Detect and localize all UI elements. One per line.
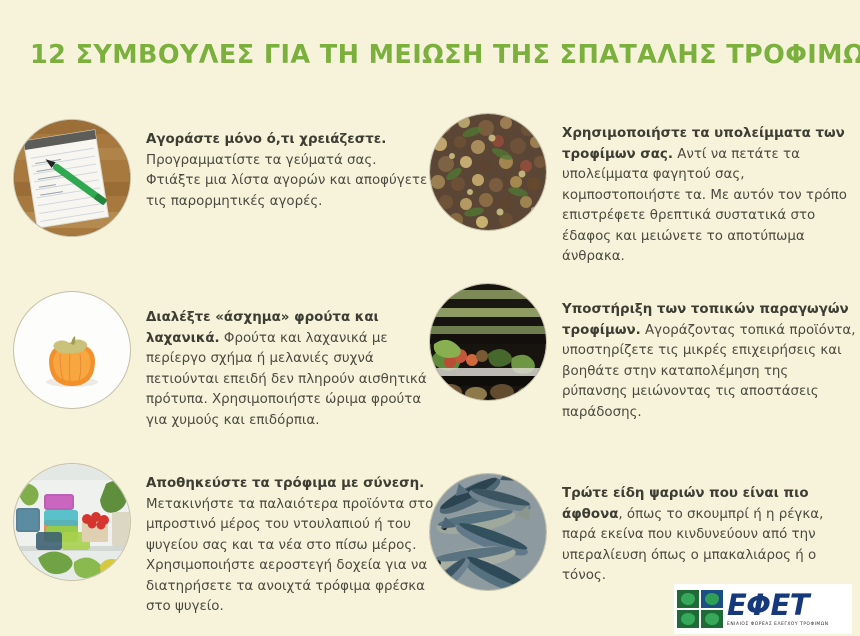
tip-heading: Αγοράστε μόνο ό,τι χρειάζεστε. [146,132,386,147]
tip-text: Αγοράστε μόνο ό,τι χρειάζεστε. Προγραμμα… [130,120,434,212]
efet-grid-cell [677,590,699,608]
efet-grid-cell [701,610,723,628]
farmers-market-stall-photo [430,284,546,400]
tip-body: Προγραμματίστε τα γεύματά σας. Φτιάξτε μ… [146,153,427,209]
tip-eat-abundant-fish: Τρώτε είδη ψαριών που είναι πιο άφθονα, … [430,474,856,590]
efet-grid-cell [701,590,723,608]
tip-store-food-wisely: Αποθηκεύστε τα τρόφιμα με σύνεση. Μετακι… [14,464,434,618]
efet-grid-cell [677,610,699,628]
compost-food-scraps-photo [430,114,546,230]
persimmon-fruit-photo [14,292,130,408]
tip-text: Τρώτε είδη ψαριών που είναι πιο άφθονα, … [546,474,856,587]
tip-text: Αποθηκεύστε τα τρόφιμα με σύνεση. Μετακι… [130,464,434,618]
efet-logo: ΕΦΕΤ ΕΝΙΑΙΟΣ ΦΟΡΕΑΣ ΕΛΕΓΧΟΥ ΤΡΟΦΙΜΩΝ [674,584,852,634]
efet-name: ΕΦΕΤ [727,591,849,620]
tip-use-food-leftovers: Χρησιμοποιήστε τα υπολείμματα των τροφίμ… [430,114,856,268]
notepad-with-green-pen-photo [14,120,130,236]
page-title: 12 ΣΥΜΒΟΥΛΕΣ ΓΙΑ ΤΗ ΜΕΙΩΣΗ ΤΗΣ ΣΠΑΤΑΛΗΣ … [30,40,830,70]
tip-heading: Αποθηκεύστε τα τρόφιμα με σύνεση. [146,476,424,491]
fridge-storage-containers-photo [14,464,130,580]
efet-wordmark: ΕΦΕΤ ΕΝΙΑΙΟΣ ΦΟΡΕΑΣ ΕΛΕΓΧΟΥ ΤΡΟΦΙΜΩΝ [723,591,849,627]
tip-text: Υποστήριξη των τοπικών παραγωγών τροφίμω… [546,284,856,423]
tip-text: Διαλέξτε «άσχημα» φρούτα και λαχανικά. Φ… [130,292,434,431]
efet-produce-grid-icon [677,590,723,628]
tip-body: Μετακινήστε τα παλαιότερα προϊόντα στο μ… [146,497,433,615]
tip-support-local-producers: Υποστήριξη των τοπικών παραγωγών τροφίμω… [430,284,856,423]
tip-body: Αντί να πετάτε τα υπολείμματα φαγητού σα… [562,147,847,265]
fresh-mackerel-fish-photo [430,474,546,590]
tip-choose-ugly-produce: Διαλέξτε «άσχημα» φρούτα και λαχανικά. Φ… [14,292,434,431]
tip-buy-only-what-you-need: Αγοράστε μόνο ό,τι χρειάζεστε. Προγραμμα… [14,120,434,236]
efet-subtitle: ΕΝΙΑΙΟΣ ΦΟΡΕΑΣ ΕΛΕΓΧΟΥ ΤΡΟΦΙΜΩΝ [727,622,851,627]
tips-grid: Αγοράστε μόνο ό,τι χρειάζεστε. Προγραμμα… [0,112,860,612]
tip-text: Χρησιμοποιήστε τα υπολείμματα των τροφίμ… [546,114,856,268]
